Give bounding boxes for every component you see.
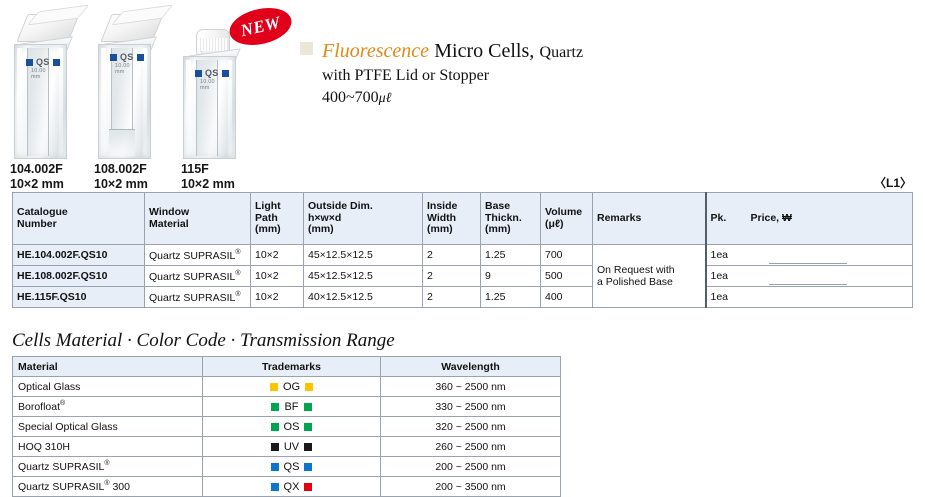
product-caption-2: 108.002F 10×2 mm — [94, 162, 148, 191]
cell-wavelength: 200 ~ 3500 nm — [381, 477, 561, 497]
trademark-code: QS — [284, 461, 300, 473]
cell-inside-width: 2 — [423, 266, 481, 287]
cell-trademark-code: OS — [203, 417, 381, 437]
cell-wavelength: 320 ~ 2500 nm — [381, 417, 561, 437]
hdr-lp-l2: Path — [255, 212, 278, 224]
header-window-material: Window Material — [145, 193, 251, 245]
hdr-bt-l1: Base — [485, 200, 510, 212]
table-row: Borofloat®BF330 ~ 2500 nm — [13, 397, 561, 417]
cell-light-path: 10×2 — [251, 245, 304, 266]
volume-range: 400~700 — [322, 89, 379, 106]
cell-trademark-code: BF — [203, 397, 381, 417]
header-volume: Volume (μℓ) — [541, 193, 593, 245]
trademark-code: BF — [284, 401, 298, 413]
color-swatch-right-icon — [304, 463, 312, 471]
cell-pk: 1ea — [706, 287, 747, 308]
cell-pk: 1ea — [706, 266, 747, 287]
cell-inside-width: 2 — [423, 245, 481, 266]
cell-outside-dim: 40×12.5×12.5 — [304, 287, 423, 308]
product-code-2: 108.002F — [94, 162, 147, 176]
material-name: Borofloat — [18, 401, 60, 413]
product-dims-3: 10×2 mm — [181, 177, 235, 191]
hdr-win-l1: Window — [149, 206, 189, 218]
cell-window-material: Quartz SUPRASIL® — [145, 287, 251, 308]
title-emphasis: Fluorescence — [322, 40, 429, 62]
cell-light-path: 10×2 — [251, 266, 304, 287]
cell-catalogue: HE.115F.QS10 — [13, 287, 145, 308]
title-line-1: Fluorescence Micro Cells, Quartz — [300, 40, 700, 64]
color-swatch-left-icon — [271, 443, 279, 451]
path-length-label: 10.00 mm — [200, 79, 215, 91]
cell-material-name: Quartz SUPRASIL® 300 — [13, 477, 203, 497]
cell-inside-width: 2 — [423, 287, 481, 308]
cell-price[interactable] — [747, 266, 913, 287]
hdr-cat-l2: Number — [17, 218, 57, 230]
product-code-3: 115F — [181, 162, 209, 176]
cell-base-thickness: 1.25 — [481, 245, 541, 266]
hdr-lp-l3: (mm) — [255, 223, 281, 235]
header-wavelength: Wavelength — [381, 357, 561, 377]
cell-outside-dim: 45×12.5×12.5 — [304, 266, 423, 287]
product-caption-3: 115F 10×2 mm — [181, 162, 235, 191]
cell-pk: 1ea — [706, 245, 747, 266]
cell-trademark-code: QS — [203, 457, 381, 477]
color-swatch-right-icon — [304, 483, 312, 491]
title-line-2: with PTFE Lid or Stopper — [322, 67, 700, 85]
cell-base-thickness: 9 — [481, 266, 541, 287]
table-row: HE.108.002F.QS10 Quartz SUPRASIL® 10×2 4… — [13, 266, 913, 287]
hdr-od-l1: Outside Dim. — [308, 200, 373, 212]
header-inside-width: Inside Width (mm) — [423, 193, 481, 245]
cell-volume: 700 — [541, 245, 593, 266]
cell-material-name: Optical Glass — [13, 377, 203, 397]
spec-table-header-row: Catalogue Number Window Material Light P… — [13, 193, 913, 245]
hdr-win-l2: Material — [149, 218, 189, 230]
hdr-iw-l3: (mm) — [427, 223, 453, 235]
qs-trademark-label: QS — [195, 68, 229, 78]
material-name: Optical Glass — [18, 381, 80, 393]
cell-remarks-merged: On Request with a Polished Base — [593, 245, 706, 308]
hdr-vol-l2: (μℓ) — [545, 218, 564, 230]
material-name: Quartz SUPRASIL — [18, 461, 104, 473]
trademark-code: QX — [284, 481, 300, 493]
header-material: Material — [13, 357, 203, 377]
cell-outside-dim: 45×12.5×12.5 — [304, 245, 423, 266]
square-bullet-icon — [300, 42, 313, 55]
product-caption-1: 104.002F 10×2 mm — [10, 162, 64, 191]
table-row: HE.104.002F.QS10 Quartz SUPRASIL® 10×2 4… — [13, 245, 913, 266]
cell-trademark-code: OG — [203, 377, 381, 397]
cell-material-name: Quartz SUPRASIL® — [13, 457, 203, 477]
trademark-code: UV — [284, 441, 299, 453]
color-swatch-right-icon — [305, 383, 313, 391]
hdr-bt-l3: (mm) — [485, 223, 511, 235]
materials-section-heading: Cells Material · Color Code · Transmissi… — [12, 330, 395, 352]
remarks-line-1: On Request with — [597, 264, 675, 276]
volume-unit: μℓ — [379, 91, 392, 106]
cell-light-path: 10×2 — [251, 287, 304, 308]
cell-catalogue: HE.108.002F.QS10 — [13, 266, 145, 287]
cell-wavelength: 200 ~ 2500 nm — [381, 457, 561, 477]
hdr-od-l2: h×w×d — [308, 212, 341, 224]
hdr-iw-l1: Inside — [427, 200, 457, 212]
registered-mark: ® — [235, 249, 240, 256]
hdr-cat-l1: Catalogue — [17, 206, 68, 218]
materials-header-row: Material Trademarks Wavelength — [13, 357, 561, 377]
color-swatch-left-icon — [271, 423, 279, 431]
product-dims-1: 10×2 mm — [10, 177, 64, 191]
cell-price[interactable] — [747, 287, 913, 308]
cell-window-material: Quartz SUPRASIL® — [145, 245, 251, 266]
registered-mark: ® — [104, 460, 109, 467]
hdr-lp-l1: Light — [255, 200, 281, 212]
cell-trademark-code: QX — [203, 477, 381, 497]
cell-window-material: Quartz SUPRASIL® — [145, 266, 251, 287]
path-length-label: 10.00 mm — [31, 68, 46, 80]
hdr-iw-l2: Width — [427, 212, 456, 224]
material-suffix: 300 — [110, 481, 130, 493]
registered-mark: ® — [235, 291, 240, 298]
hdr-od-l3: (mm) — [308, 223, 334, 235]
material-name: Special Optical Glass — [18, 421, 118, 433]
cell-trademark-code: UV — [203, 437, 381, 457]
product-title-block: Fluorescence Micro Cells, Quartz with PT… — [300, 40, 700, 107]
registered-mark: ® — [60, 400, 65, 407]
color-swatch-left-icon — [271, 403, 279, 411]
title-main: Micro Cells, — [434, 40, 534, 62]
specification-table: Catalogue Number Window Material Light P… — [12, 192, 913, 308]
color-swatch-right-icon — [304, 403, 312, 411]
cell-wavelength: 260 ~ 2500 nm — [381, 437, 561, 457]
trademark-code: OG — [283, 381, 300, 393]
new-badge-label: NEW — [239, 12, 283, 41]
qs-trademark-label: QS — [110, 52, 144, 62]
table-row: Optical GlassOG360 ~ 2500 nm — [13, 377, 561, 397]
product-code-1: 104.002F — [10, 162, 63, 176]
cell-price[interactable] — [747, 245, 913, 266]
trademark-code: OS — [284, 421, 300, 433]
color-swatch-left-icon — [270, 383, 278, 391]
page-marker: 〈L1〉 — [874, 174, 912, 191]
cell-material-name: HOQ 310H — [13, 437, 203, 457]
cell-material-name: Special Optical Glass — [13, 417, 203, 437]
header-price: Price, ₩ — [747, 193, 913, 245]
header-trademarks: Trademarks — [203, 357, 381, 377]
cell-material-name: Borofloat® — [13, 397, 203, 417]
header-catalogue-number: Catalogue Number — [13, 193, 145, 245]
table-row: HOQ 310HUV260 ~ 2500 nm — [13, 437, 561, 457]
product-dims-2: 10×2 mm — [94, 177, 148, 191]
registered-mark: ® — [235, 270, 240, 277]
materials-color-code-table: Material Trademarks Wavelength Optical G… — [12, 356, 561, 497]
material-name: HOQ 310H — [18, 441, 70, 453]
color-swatch-left-icon — [271, 483, 279, 491]
table-row: Quartz SUPRASIL®QS200 ~ 2500 nm — [13, 457, 561, 477]
cell-volume: 500 — [541, 266, 593, 287]
table-row: Quartz SUPRASIL® 300QX200 ~ 3500 nm — [13, 477, 561, 497]
header-pk: Pk. — [706, 193, 747, 245]
hdr-vol-l1: Volume — [545, 206, 582, 218]
table-row: HE.115F.QS10 Quartz SUPRASIL® 10×2 40×12… — [13, 287, 913, 308]
color-swatch-left-icon — [271, 463, 279, 471]
cell-base-thickness: 1.25 — [481, 287, 541, 308]
hdr-bt-l2: Thickn. — [485, 212, 522, 224]
qs-trademark-label: QS — [26, 57, 60, 67]
header-base-thickness: Base Thickn. (mm) — [481, 193, 541, 245]
color-swatch-right-icon — [304, 443, 312, 451]
table-row: Special Optical GlassOS320 ~ 2500 nm — [13, 417, 561, 437]
header-remarks: Remarks — [593, 193, 706, 245]
material-name: Quartz SUPRASIL — [18, 481, 104, 493]
cell-volume: 400 — [541, 287, 593, 308]
color-swatch-right-icon — [304, 423, 312, 431]
header-light-path: Light Path (mm) — [251, 193, 304, 245]
title-line-3: 400~700μℓ — [322, 89, 700, 107]
cell-catalogue: HE.104.002F.QS10 — [13, 245, 145, 266]
cell-wavelength: 330 ~ 2500 nm — [381, 397, 561, 417]
title-material: Quartz — [540, 44, 584, 61]
path-length-label: 10.00 mm — [115, 63, 130, 75]
cell-wavelength: 360 ~ 2500 nm — [381, 377, 561, 397]
remarks-line-2: a Polished Base — [597, 276, 673, 288]
header-outside-dim: Outside Dim. h×w×d (mm) — [304, 193, 423, 245]
